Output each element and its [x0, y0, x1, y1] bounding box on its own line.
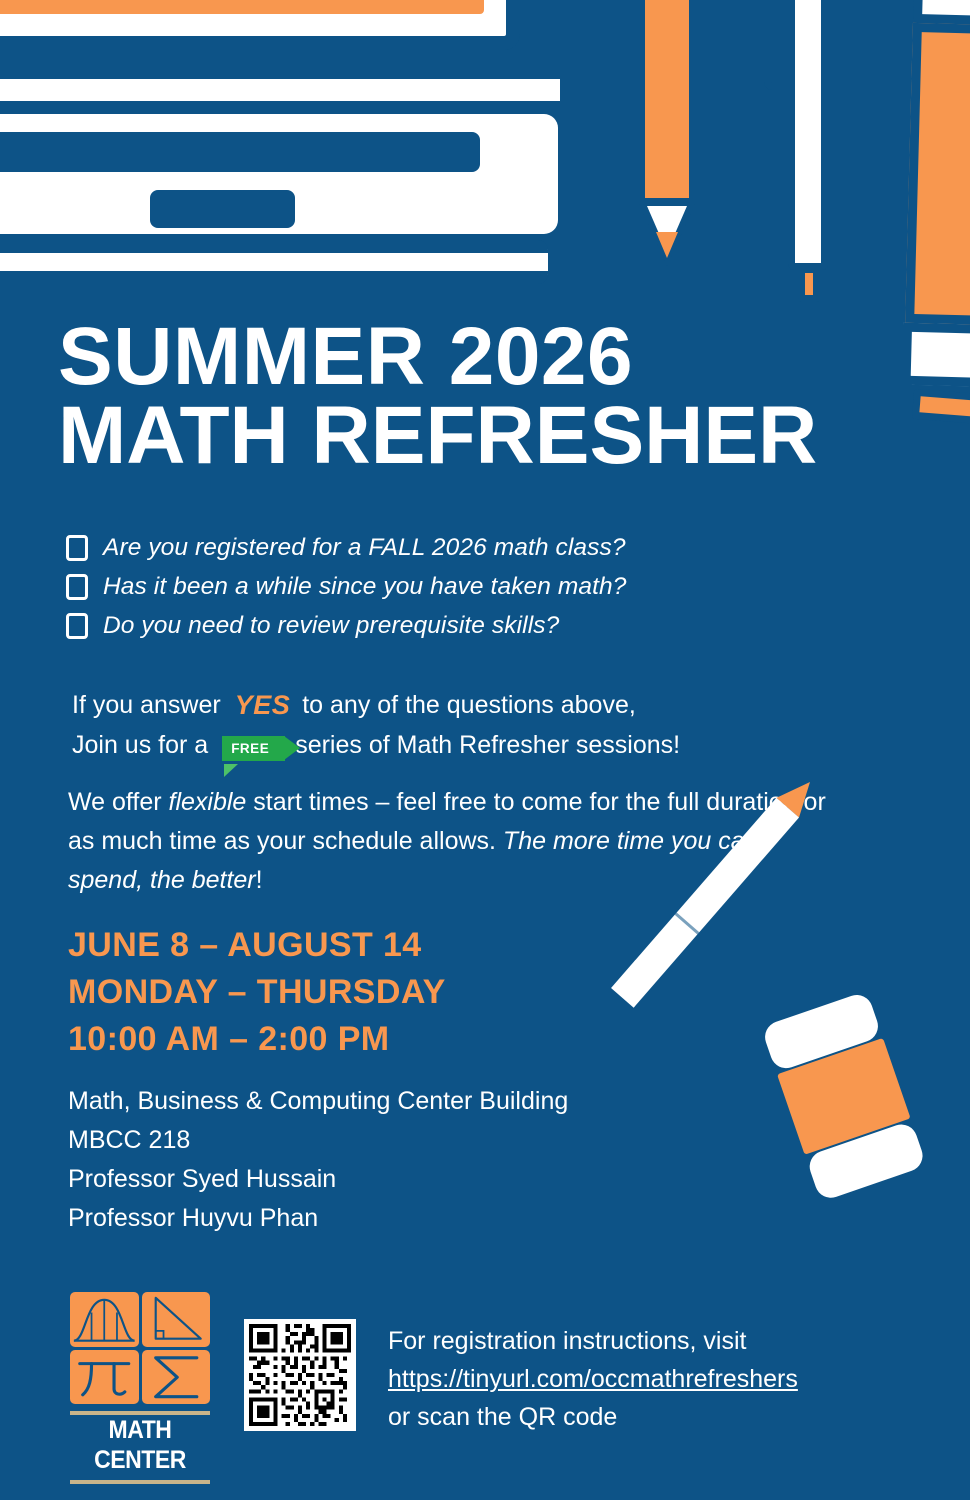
checklist-item: Has it been a while since you have taken…	[66, 567, 866, 606]
yes-line1-after: to any of the questions above,	[302, 685, 636, 725]
book-fourth	[0, 240, 548, 284]
right-triangle-icon	[142, 1292, 211, 1347]
checklist-item: Do you need to review prerequisite skill…	[66, 606, 866, 645]
yes-line1-before: If you answer	[72, 685, 221, 725]
yes-callout: If you answer YES to any of the question…	[72, 685, 892, 765]
flex-part-1: We offer	[68, 788, 169, 816]
registration-line-3: or scan the QR code	[388, 1398, 918, 1436]
bell-curve-icon	[70, 1292, 139, 1347]
yes-line2-before: Join us for a	[72, 725, 208, 765]
sigma-symbol-icon	[142, 1350, 211, 1405]
logo-divider-bottom	[70, 1480, 210, 1484]
checkbox-icon[interactable]	[66, 574, 88, 600]
location-building: Math, Business & Computing Center Buildi…	[68, 1082, 768, 1121]
schedule-days: MONDAY – THURSDAY	[68, 969, 688, 1016]
free-badge-tail	[224, 764, 238, 777]
instructor-1: Professor Syed Hussain	[68, 1160, 768, 1199]
flex-part-3: !	[256, 866, 263, 894]
registration-url[interactable]: https://tinyurl.com/occmathrefreshers	[388, 1360, 918, 1398]
question-checklist: Are you registered for a FALL 2026 math …	[66, 528, 866, 645]
schedule-dates: JUNE 8 – AUGUST 14	[68, 922, 688, 969]
yes-word: YES	[235, 685, 291, 725]
schedule-hours: 10:00 AM – 2:00 PM	[68, 1016, 688, 1063]
yes-line-1: If you answer YES to any of the question…	[72, 685, 892, 725]
yes-line2-after: series of Math Refresher sessions!	[295, 725, 680, 765]
poster: SUMMER 2026 MATH REFRESHER Are you regis…	[0, 0, 970, 1500]
book-third	[0, 114, 558, 234]
checklist-item: Are you registered for a FALL 2026 math …	[66, 528, 866, 567]
headline-line-2: MATH REFRESHER	[58, 397, 938, 476]
stack-of-books-icon	[0, 0, 580, 280]
qr-code[interactable]	[244, 1319, 356, 1431]
checklist-item-label: Has it been a while since you have taken…	[103, 573, 627, 601]
book-top	[0, 0, 520, 50]
qr-code-svg	[249, 1324, 351, 1426]
book-second	[0, 66, 560, 114]
eraser-icon	[761, 991, 926, 1198]
free-badge-label: FREE	[222, 736, 285, 761]
registration-block: For registration instructions, visit htt…	[388, 1322, 918, 1436]
orange-pencil-icon	[638, 0, 696, 280]
page-title: SUMMER 2026 MATH REFRESHER	[58, 318, 938, 475]
pi-symbol-icon	[70, 1350, 139, 1405]
instructor-2: Professor Huyvu Phan	[68, 1199, 768, 1238]
location-block: Math, Business & Computing Center Buildi…	[68, 1082, 768, 1238]
math-center-logo: MATH CENTER	[70, 1292, 210, 1484]
location-room: MBCC 218	[68, 1121, 768, 1160]
headline-line-1: SUMMER 2026	[58, 318, 938, 397]
schedule-block: JUNE 8 – AUGUST 14 MONDAY – THURSDAY 10:…	[68, 922, 688, 1063]
white-pen-icon	[780, 0, 836, 300]
checkbox-icon[interactable]	[66, 535, 88, 561]
checkbox-icon[interactable]	[66, 613, 88, 639]
yes-line-2: Join us for a FREE series of Math Refres…	[72, 725, 892, 765]
free-badge: FREE	[222, 725, 285, 765]
logo-grid	[70, 1292, 210, 1404]
checklist-item-label: Do you need to review prerequisite skill…	[103, 612, 559, 640]
flex-emphasis-1: flexible	[169, 788, 247, 816]
checklist-item-label: Are you registered for a FALL 2026 math …	[103, 534, 626, 562]
registration-line-1: For registration instructions, visit	[388, 1322, 918, 1360]
logo-name: MATH CENTER	[76, 1415, 205, 1475]
